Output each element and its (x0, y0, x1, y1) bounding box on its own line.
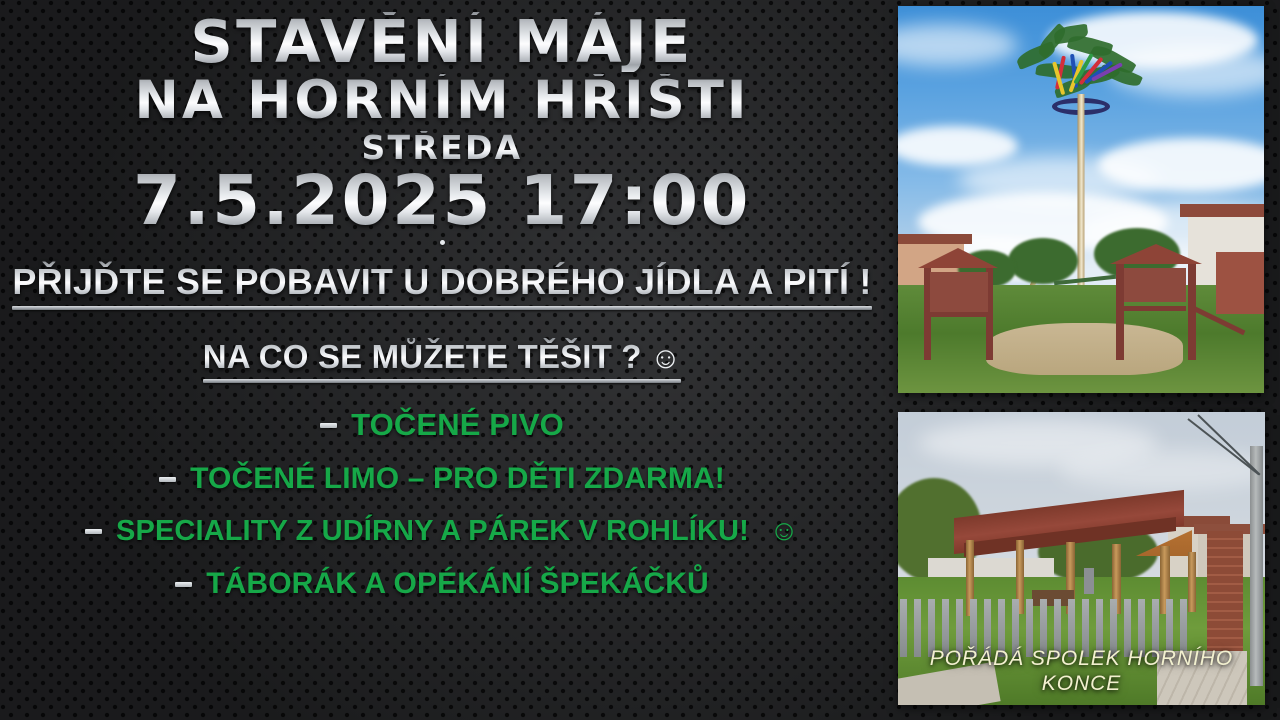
playset-roof (1110, 244, 1202, 264)
house-roof-shape (1180, 204, 1264, 217)
list-item: TÁBORÁK A OPÉKÁNÍ ŠPEKÁČKŮ (175, 567, 709, 601)
poster-title-line-1: STAVĚNÍ MÁJE (190, 12, 693, 72)
poster-datetime: 7.5.2025 17:00 (133, 166, 751, 236)
house-roof-shape (898, 234, 972, 244)
smiley-face-icon: ☺ (650, 342, 681, 375)
playset-post (1116, 264, 1124, 360)
question-text: NA CO SE MŮŽETE TĚŠIT ? (203, 338, 642, 375)
poster-title-line-2: NA HORNÍM HŘIŠTI (135, 74, 750, 128)
playset-panel (1124, 268, 1186, 302)
offerings-list: TOČENÉ PIVO TOČENÉ LIMO – PRO DĚTI ZDARM… (8, 407, 876, 601)
smiley-face-icon: ☺ (769, 515, 799, 548)
tree-shape (1008, 238, 1078, 284)
dash-bullet-icon (320, 423, 337, 428)
offering-text: TOČENÉ LIMO – PRO DĚTI ZDARMA! (190, 462, 725, 496)
playset-roof (918, 248, 998, 268)
offering-text: SPECIALITY Z UDÍRNY A PÁREK V ROHLÍKU! (116, 515, 749, 548)
decorative-dot (440, 240, 445, 245)
maypole-photo (898, 6, 1264, 393)
caption-line-1: POŘÁDÁ SPOLEK HORNÍHO (898, 647, 1265, 672)
sand-area (986, 323, 1184, 375)
photo-caption: POŘÁDÁ SPOLEK HORNÍHO KONCE (898, 647, 1265, 697)
question-underline (203, 379, 682, 383)
pavilion-photo: POŘÁDÁ SPOLEK HORNÍHO KONCE (898, 412, 1265, 705)
invite-text: PŘIJĎTE SE POBAVIT U DOBRÉHO JÍDLA A PIT… (12, 261, 871, 302)
question-line: NA CO SE MŮŽETE TĚŠIT ?☺ (203, 338, 682, 383)
poster-weekday: STŘEDA (361, 131, 522, 165)
dash-bullet-icon (85, 529, 102, 534)
person-figure (1084, 568, 1094, 594)
invite-underline (12, 306, 871, 310)
brick-wall-shape (1216, 252, 1264, 314)
list-item: SPECIALITY Z UDÍRNY A PÁREK V ROHLÍKU!☺ (85, 515, 799, 548)
offering-text: TOČENÉ PIVO (351, 407, 564, 443)
list-item: TOČENÉ LIMO – PRO DĚTI ZDARMA! (159, 462, 725, 496)
poster-text-column: STAVĚNÍ MÁJE NA HORNÍM HŘIŠTI STŘEDA 7.5… (0, 0, 884, 720)
dash-bullet-icon (159, 477, 176, 482)
maypole-crown (1006, 24, 1156, 104)
poster-canvas: STAVĚNÍ MÁJE NA HORNÍM HŘIŠTI STŘEDA 7.5… (0, 0, 1280, 720)
playset-beam (930, 312, 988, 317)
playset-panel (930, 272, 988, 312)
offering-text: TÁBORÁK A OPÉKÁNÍ ŠPEKÁČKŮ (206, 567, 709, 601)
caption-line-2: KONCE (898, 672, 1265, 697)
invite-line: PŘIJĎTE SE POBAVIT U DOBRÉHO JÍDLA A PIT… (12, 261, 871, 310)
playset-beam (1124, 306, 1186, 311)
list-item: TOČENÉ PIVO (320, 407, 564, 443)
dash-bullet-icon (175, 582, 192, 587)
